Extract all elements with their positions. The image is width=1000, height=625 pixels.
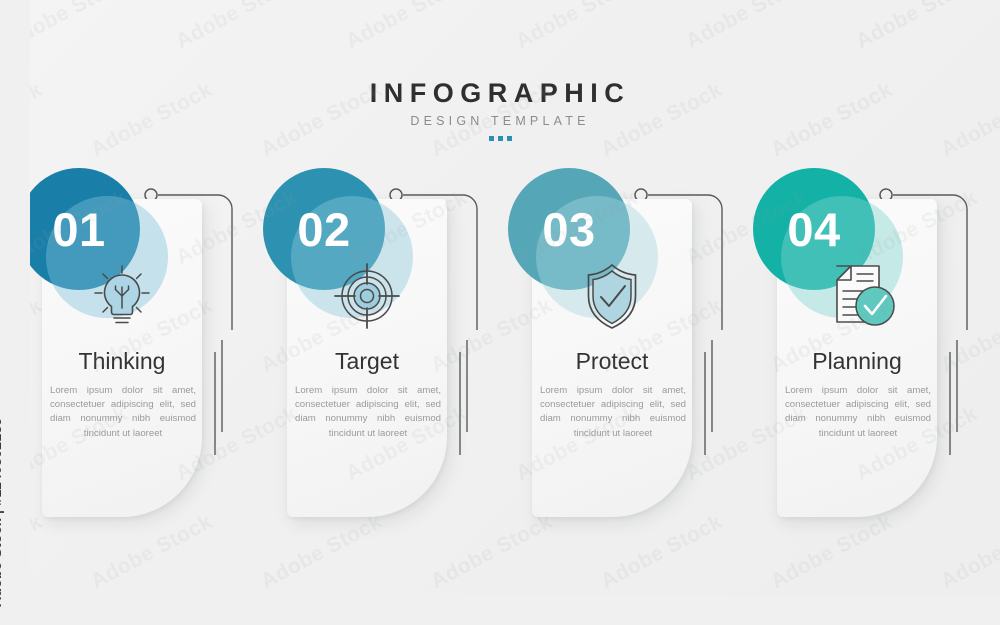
step-icon: [42, 258, 202, 334]
step-icon: [777, 258, 937, 334]
document-check-icon: [817, 258, 897, 334]
step-icon: [287, 258, 447, 334]
header: INFOGRAPHIC DESIGN TEMPLATE: [0, 78, 1000, 141]
page-title: INFOGRAPHIC: [0, 78, 1000, 109]
step-heading: Planning: [777, 348, 937, 375]
step-body: Lorem ipsum dolor sit amet, consectetuer…: [295, 384, 441, 441]
step-body: Lorem ipsum dolor sit amet, consectetuer…: [50, 384, 196, 441]
step-body: Lorem ipsum dolor sit amet, consectetuer…: [540, 384, 686, 441]
watermark-bottom-bar: [0, 595, 1000, 625]
infographic-canvas: INFOGRAPHIC DESIGN TEMPLATE: [0, 0, 1000, 625]
step-heading: Thinking: [42, 348, 202, 375]
shield-check-icon: [574, 258, 650, 334]
target-icon: [329, 258, 405, 334]
page-subtitle: DESIGN TEMPLATE: [0, 114, 1000, 128]
step-heading: Target: [287, 348, 447, 375]
step-body: Lorem ipsum dolor sit amet, consectetuer…: [785, 384, 931, 441]
lightbulb-icon: [84, 258, 160, 334]
accent-dot: [498, 136, 503, 141]
step-heading: Protect: [532, 348, 692, 375]
step-icon: [532, 258, 692, 334]
watermark-left-bar: Adobe Stock | #1140502189: [0, 0, 30, 625]
accent-dot: [507, 136, 512, 141]
watermark-side-text: Adobe Stock | #1140502189: [0, 585, 4, 607]
accent-dot: [489, 136, 494, 141]
accent-dots: [0, 136, 1000, 141]
